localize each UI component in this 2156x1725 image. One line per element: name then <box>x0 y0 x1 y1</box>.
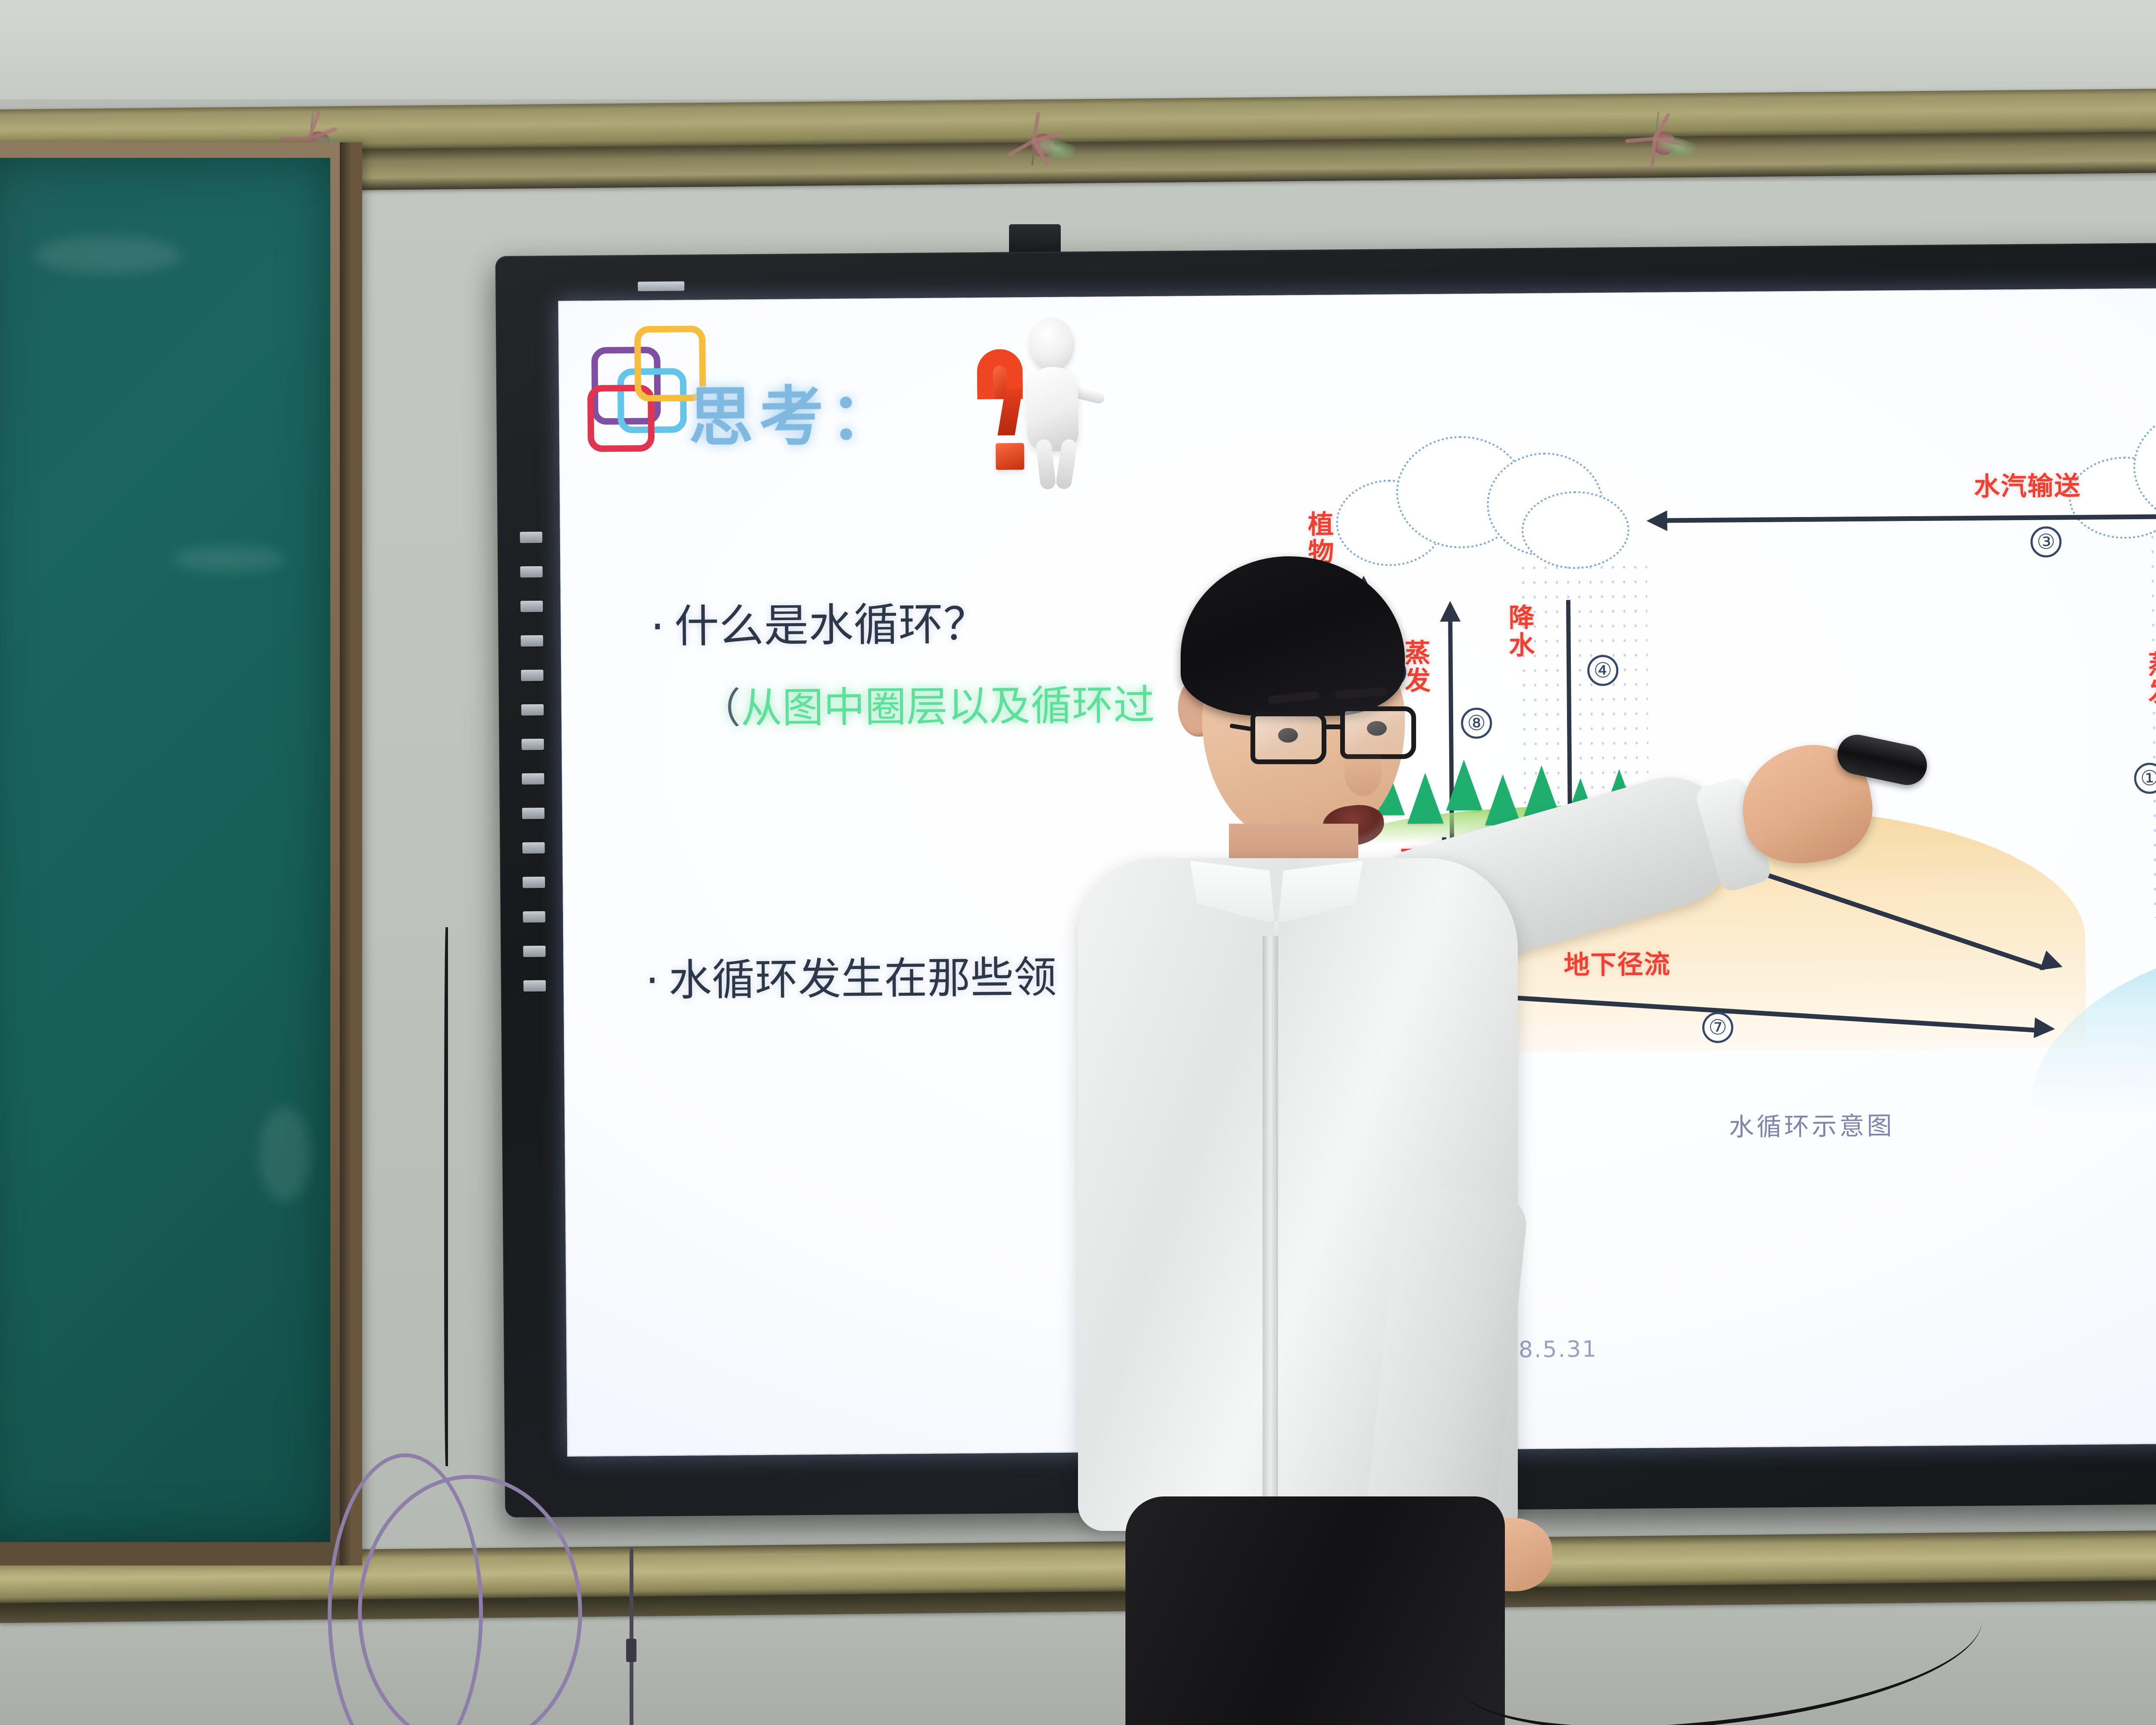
bezel-button[interactable] <box>523 946 545 957</box>
classroom-scene: 思考： ·什么是水循环？ <box>0 0 2156 1725</box>
chalkboard-frame <box>0 142 362 1565</box>
bezel-button[interactable] <box>523 980 546 991</box>
number-badge-1: ① <box>2134 762 2156 794</box>
bullet-text-3: 水循环发生在那些领 <box>668 952 1057 1006</box>
bezel-button[interactable] <box>521 670 543 681</box>
cable-black-vertical <box>444 927 448 1466</box>
chalkboard-edge <box>340 142 353 1565</box>
cable-drop <box>630 1548 633 1725</box>
bezel-button[interactable] <box>522 808 545 819</box>
number-badge-3: ③ <box>2031 526 2062 558</box>
cloud-icon-ocean <box>2068 398 2156 543</box>
bezel-button[interactable] <box>523 877 545 888</box>
teacher-nose <box>1344 751 1382 796</box>
bullet-paren-open: （ <box>699 684 741 733</box>
eyeglasses-icon <box>1250 706 1421 771</box>
bezel-button-strip-left[interactable] <box>520 532 546 991</box>
bezel-button[interactable] <box>522 773 544 784</box>
slide-bullet-1: ·什么是水循环？ <box>650 587 988 655</box>
bullet-marker-3: · <box>645 955 659 1006</box>
power-led-icon <box>638 281 684 291</box>
label-water-vapor-transport: 水汽输送 <box>1974 465 2081 503</box>
question-mark-figure-icon <box>972 310 1103 500</box>
bezel-button[interactable] <box>522 842 545 853</box>
bezel-button[interactable] <box>521 739 544 750</box>
teacher-shirt-placket <box>1263 936 1278 1496</box>
label-evaporation-ocean: 蒸发 <box>2140 650 2156 706</box>
slide-title: 思考： <box>688 364 901 459</box>
wall-upper <box>0 0 2156 99</box>
bezel-button[interactable] <box>520 635 543 646</box>
teacher-figure <box>1026 556 1932 1725</box>
bezel-button[interactable] <box>523 911 545 922</box>
bullet-text-1: 什么是水循环？ <box>674 598 988 653</box>
cable-clip <box>626 1639 636 1662</box>
iwb-wall-mount <box>1009 224 1061 254</box>
bezel-button[interactable] <box>520 566 542 577</box>
bullet-marker-1: · <box>650 600 665 653</box>
arrow-head-left <box>1646 510 1667 531</box>
bezel-button[interactable] <box>520 601 543 612</box>
bezel-button[interactable] <box>520 532 542 543</box>
chalkboard-surface[interactable] <box>0 158 330 1542</box>
teacher-trousers <box>1125 1496 1505 1725</box>
arrow-head-right <box>2034 1017 2056 1039</box>
cloud-icon-land <box>1335 426 1639 571</box>
bezel-button[interactable] <box>521 704 544 715</box>
